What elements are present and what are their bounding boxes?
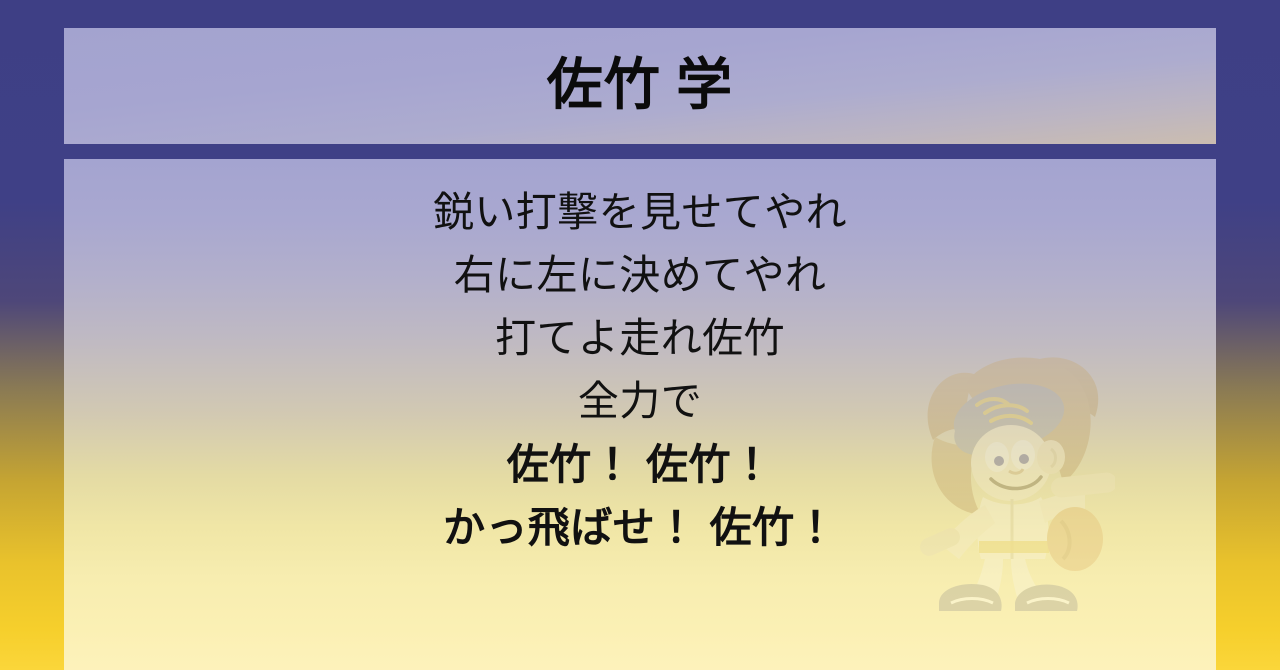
content-panel: 鋭い打撃を見せてやれ 右に左に決めてやれ 打てよ走れ佐竹 全力で 佐竹！ 佐竹！… — [64, 159, 1216, 670]
lyric-line: 佐竹！ 佐竹！ — [64, 433, 1216, 496]
lyrics-block: 鋭い打撃を見せてやれ 右に左に決めてやれ 打てよ走れ佐竹 全力で 佐竹！ 佐竹！… — [64, 159, 1216, 559]
chant-card: 佐竹 学 — [0, 0, 1280, 670]
page-title: 佐竹 学 — [547, 58, 733, 114]
lyric-line: 打てよ走れ佐竹 — [64, 307, 1216, 370]
lyric-line: かっ飛ばせ！ 佐竹！ — [64, 496, 1216, 559]
title-band: 佐竹 学 — [64, 28, 1216, 144]
lyric-line: 右に左に決めてやれ — [64, 244, 1216, 307]
lyric-line: 全力で — [64, 370, 1216, 433]
lyric-line: 鋭い打撃を見せてやれ — [64, 181, 1216, 244]
